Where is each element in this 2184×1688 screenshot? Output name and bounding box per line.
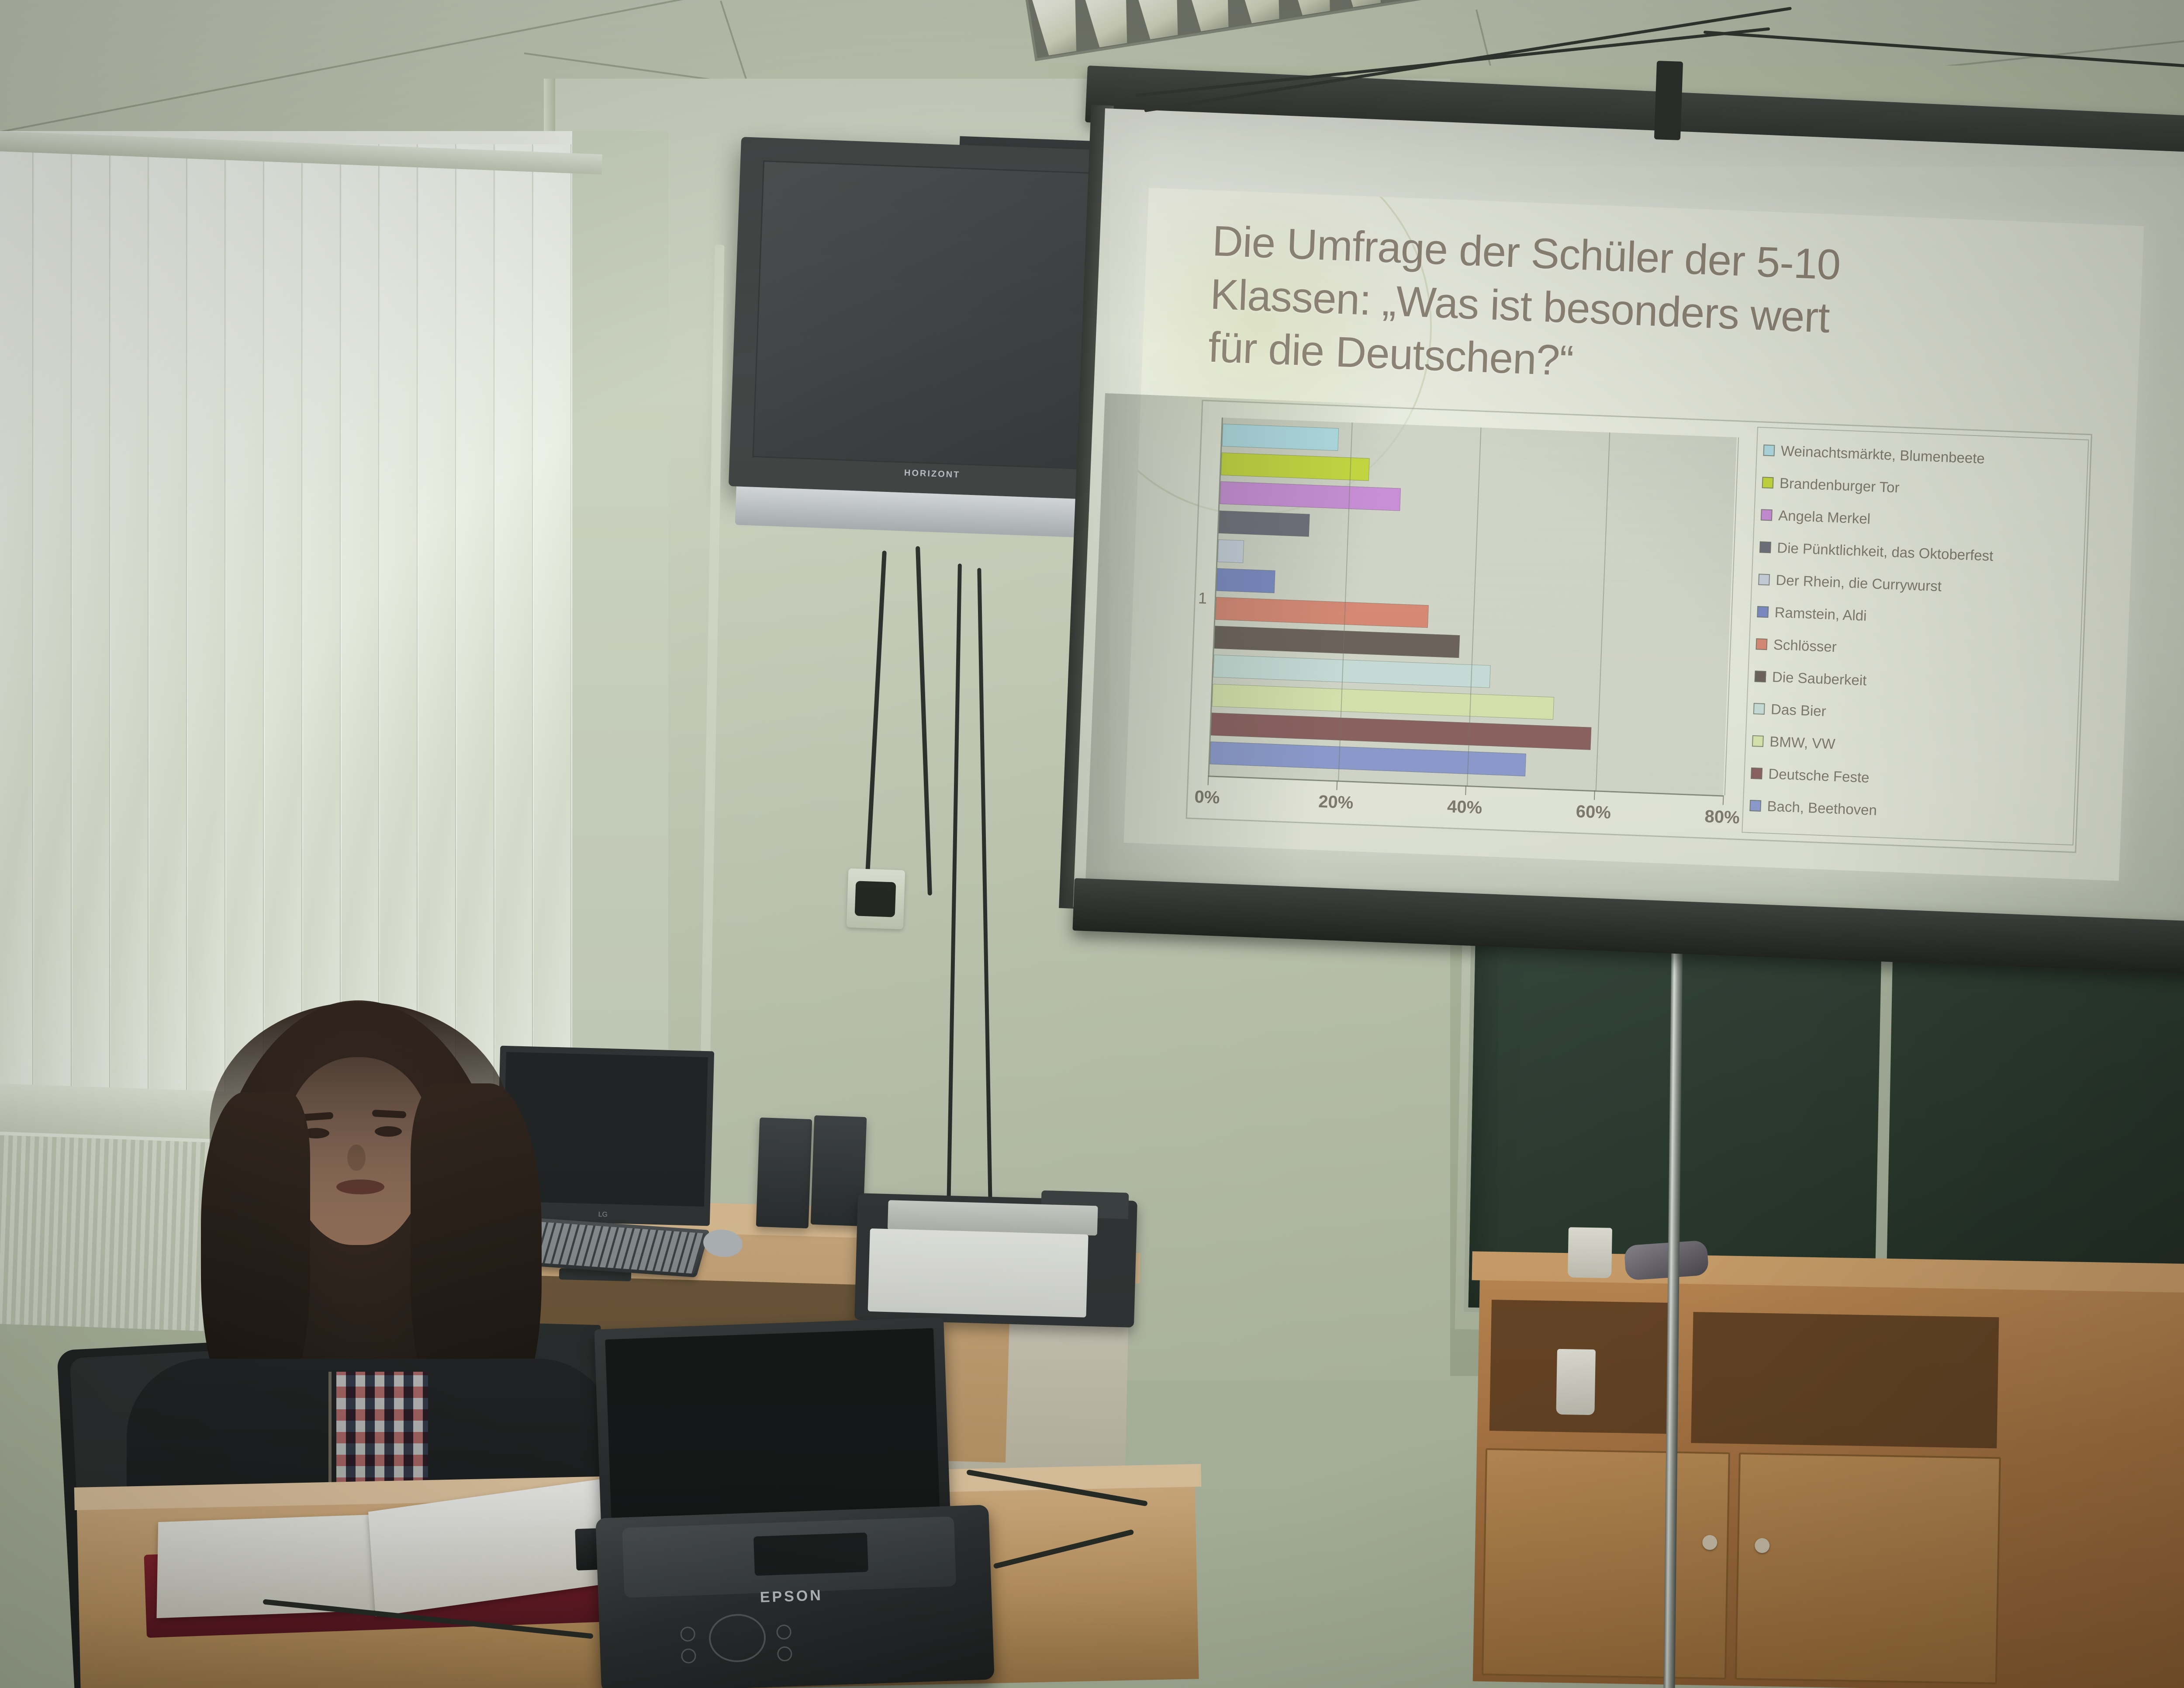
legend-color-swatch	[1751, 768, 1762, 779]
chart-bar	[1213, 655, 1491, 688]
cabinet-door-left[interactable]	[1482, 1448, 1730, 1680]
chart-bar	[1217, 539, 1244, 563]
legend-color-swatch	[1753, 703, 1765, 715]
laptop-lid	[594, 1317, 950, 1535]
classroom-photo: HORIZONT LG	[0, 0, 2184, 1688]
chart-bar	[1221, 453, 1370, 481]
chart-x-tick-label: 0%	[1194, 787, 1220, 808]
legend-item-label: Der Rhein, die Currywurst	[1776, 572, 1942, 595]
chart-bar	[1219, 510, 1310, 536]
chart-bar	[1222, 424, 1338, 451]
laptop-screen	[605, 1328, 940, 1524]
wall-power-outlet[interactable]	[847, 868, 905, 929]
chart-x-tick-label: 60%	[1576, 802, 1611, 823]
projector-brand-label: EPSON	[760, 1587, 823, 1606]
legend-item-label: Bach, Beethoven	[1767, 798, 1877, 819]
cup-on-cabinet-top	[1568, 1227, 1612, 1278]
chart-x-tick-label: 40%	[1447, 797, 1482, 818]
legend-color-swatch	[1749, 800, 1761, 812]
cup-on-shelf	[1556, 1349, 1596, 1415]
legend-color-swatch	[1762, 477, 1774, 488]
slide-title: Die Umfrage der Schüler der 5-10 Klassen…	[1207, 214, 2060, 406]
chart-plot-area	[1208, 418, 1737, 796]
projector-top-panel	[622, 1516, 956, 1598]
chart-x-tick-label: 80%	[1704, 807, 1740, 828]
legend-color-swatch	[1763, 444, 1775, 456]
chart-y-category-label: 1	[1198, 589, 1207, 608]
ceiling-light-fixture	[1022, 0, 1497, 61]
legend-item-label: Weinachtsmärkte, Blumenbeete	[1780, 443, 1985, 467]
legend-item-label: Deutsche Feste	[1768, 765, 1870, 786]
legend-item-label: BMW, VW	[1769, 733, 1836, 753]
cabinet-door-right[interactable]	[1735, 1453, 2001, 1684]
projected-slide: Die Umfrage der Schüler der 5-10 Klassen…	[1123, 188, 2144, 881]
chart-container: 1 0%20%40%60%80% Weinachtsmärkte, Blumen…	[1186, 400, 2092, 853]
legend-color-swatch	[1759, 541, 1771, 553]
legend-item-label: Die Pünktlichkeit, das Oktoberfest	[1777, 540, 1994, 564]
cloth-rag	[1624, 1240, 1709, 1280]
storage-cabinet[interactable]	[1473, 1260, 2184, 1688]
chart-x-tick-label: 20%	[1318, 792, 1354, 813]
speaker-left	[756, 1117, 812, 1228]
legend-color-swatch	[1752, 735, 1764, 747]
screen-hanger-bracket	[1654, 61, 1683, 140]
chart-x-tick	[1336, 781, 1337, 790]
printer[interactable]	[854, 1193, 1137, 1328]
legend-item-label: Ramstein, Aldi	[1774, 604, 1867, 624]
chart-x-tick	[1723, 795, 1724, 805]
tv-screen	[752, 160, 1123, 470]
legend-color-swatch	[1758, 574, 1770, 585]
chart-bar	[1220, 481, 1401, 511]
legend-color-swatch	[1755, 638, 1767, 650]
legend-item-label: Brandenburger Tor	[1779, 475, 1900, 496]
legend-item-label: Schlösser	[1773, 636, 1837, 656]
chart-legend: Weinachtsmärkte, BlumenbeeteBrandenburge…	[1742, 427, 2089, 845]
legend-color-swatch	[1761, 509, 1773, 521]
projector[interactable]: EPSON	[595, 1505, 994, 1688]
projector-vent	[753, 1532, 868, 1576]
legend-color-swatch	[1755, 671, 1766, 682]
chart-x-tick	[1594, 790, 1595, 800]
legend-color-swatch	[1757, 606, 1769, 618]
chart-x-tick	[1465, 785, 1466, 795]
chart-x-tick	[1208, 775, 1209, 785]
cabinet-open-shelf-right	[1691, 1312, 1999, 1448]
legend-item-label: Angela Merkel	[1778, 507, 1871, 527]
plug-body	[855, 881, 896, 917]
chart-bar	[1214, 626, 1460, 658]
chart-bar	[1216, 568, 1275, 593]
legend-item-label: Das Bier	[1771, 701, 1827, 720]
chart-bar	[1215, 597, 1428, 628]
legend-item-label: Die Sauberkeit	[1772, 669, 1867, 689]
printer-output-tray	[868, 1228, 1089, 1318]
chart-bar	[1209, 741, 1526, 776]
chart-bars	[1209, 424, 1736, 784]
